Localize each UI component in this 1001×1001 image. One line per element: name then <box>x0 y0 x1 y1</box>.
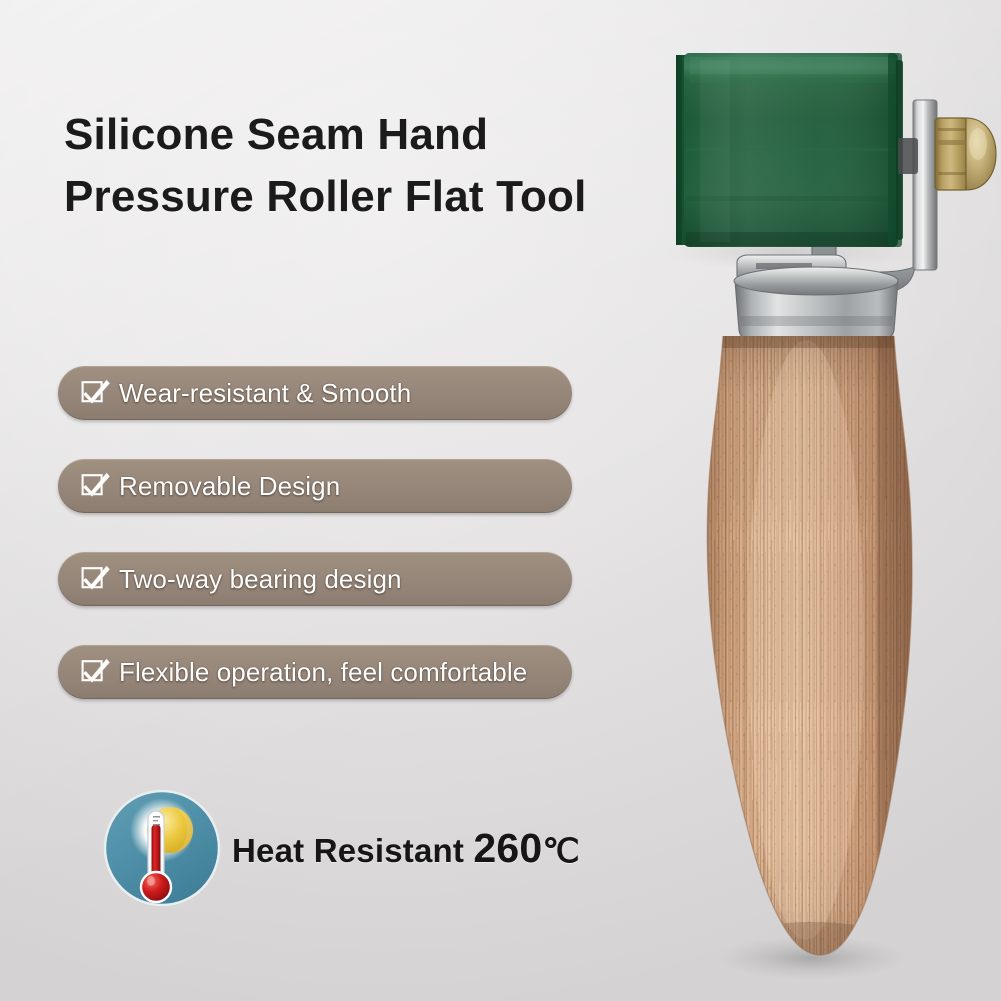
feature-pill-flexible-operation: Flexible operation, feel comfortable <box>58 645 572 699</box>
brass-dome-nut <box>935 118 996 190</box>
feature-list: Wear-resistant & Smooth Removable Design… <box>58 366 572 699</box>
page-title: Silicone Seam Hand Pressure Roller Flat … <box>64 104 684 228</box>
feature-pill-wear-resistant: Wear-resistant & Smooth <box>58 366 572 420</box>
checkbox-checked-icon <box>82 380 108 406</box>
product-feature-image: Silicone Seam Hand Pressure Roller Flat … <box>0 0 1001 1001</box>
thermometer-sun-icon <box>100 786 224 910</box>
heat-resistant-unit: ℃ <box>542 832 579 869</box>
checkbox-checked-icon <box>82 473 108 499</box>
title-line-1: Silicone Seam Hand <box>64 104 684 166</box>
green-silicone-roller <box>676 53 903 247</box>
checkbox-checked-icon <box>82 566 108 592</box>
heat-resistant-temperature: 260 <box>473 825 542 871</box>
feature-pill-two-way-bearing: Two-way bearing design <box>58 552 572 606</box>
heat-resistant-badge: Heat Resistant 260℃ <box>100 786 580 910</box>
feature-pill-removable-design: Removable Design <box>58 459 572 513</box>
feature-label: Two-way bearing design <box>119 564 402 595</box>
wooden-handle <box>690 330 925 994</box>
heat-resistant-text: Heat Resistant 260℃ <box>232 825 580 872</box>
feature-label: Flexible operation, feel comfortable <box>119 657 527 688</box>
title-line-2: Pressure Roller Flat Tool <box>64 166 684 228</box>
feature-label: Removable Design <box>119 471 340 502</box>
feature-label: Wear-resistant & Smooth <box>119 378 411 409</box>
checkbox-checked-icon <box>82 659 108 685</box>
heat-resistant-label: Heat Resistant <box>232 832 464 869</box>
